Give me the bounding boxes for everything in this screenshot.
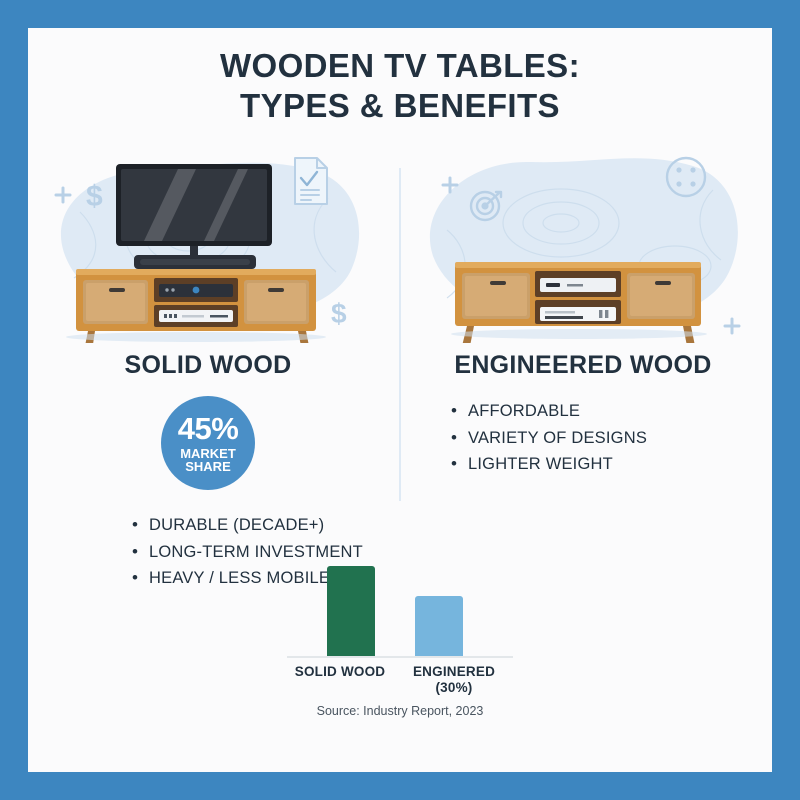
bar-solid-wood (327, 566, 375, 656)
title-line-1: WOODEN TV TABLES: (220, 47, 580, 84)
television (116, 164, 272, 260)
svg-text:$: $ (331, 298, 347, 329)
soundbar (134, 255, 256, 269)
solid-wood-heading: SOLID WOOD (28, 351, 388, 380)
solid-wood-illustration: $ $ (28, 138, 388, 343)
market-share-bar-chart: SOLID WOOD ENGINERED (30%) Source: Indus… (28, 553, 772, 718)
infographic-frame: WOODEN TV TABLES: TYPES & BENEFITS (0, 0, 800, 800)
axis-tick-solid-wood: SOLID WOOD (285, 664, 395, 680)
dollar-icon: $ (86, 180, 103, 213)
list-item: AFFORDABLE (451, 398, 763, 425)
tv-console (66, 269, 326, 343)
page-title: WOODEN TV TABLES: TYPES & BENEFITS (28, 46, 772, 127)
chart-x-axis-labels: SOLID WOOD ENGINERED (30%) (285, 664, 515, 698)
engineered-wood-illustration (403, 138, 763, 343)
list-item: VARIETY OF DESIGNS (451, 425, 763, 452)
engineered-wood-bullet-list: AFFORDABLE VARIETY OF DESIGNS LIGHTER WE… (451, 398, 763, 478)
solid-wood-column: $ $ (28, 138, 388, 592)
chart-source: Source: Industry Report, 2023 (28, 704, 772, 718)
chart-baseline (287, 656, 513, 658)
bar-engineered (415, 596, 463, 656)
engineered-wood-column: ENGINEERED WOOD AFFORDABLE VARIETY OF DE… (403, 138, 763, 478)
chart-plot-area (305, 553, 495, 658)
dollar-icon: $ (331, 298, 347, 329)
tv-console (451, 262, 707, 343)
axis-tick-sublabel: (30%) (393, 680, 515, 695)
title-line-2: TYPES & BENEFITS (28, 86, 772, 126)
list-item: DURABLE (DECADE+) (132, 512, 388, 539)
badge-label: MARKET SHARE (180, 447, 236, 474)
axis-tick-engineered: ENGINERED (30%) (393, 664, 515, 695)
list-item: LIGHTER WEIGHT (451, 451, 763, 478)
infographic-canvas: WOODEN TV TABLES: TYPES & BENEFITS (28, 28, 772, 772)
plus-icon (725, 319, 739, 333)
badge-percent: 45% (178, 413, 239, 445)
axis-tick-label: ENGINERED (413, 664, 495, 679)
market-share-badge: 45% MARKET SHARE (161, 396, 255, 490)
engineered-wood-heading: ENGINEERED WOOD (403, 351, 763, 380)
market-share-badge-wrap: 45% MARKET SHARE (28, 396, 388, 490)
badge-label-line-2: SHARE (185, 459, 231, 474)
axis-tick-label: SOLID WOOD (295, 664, 386, 679)
report-document-icon (295, 158, 327, 204)
plus-icon (56, 188, 70, 202)
column-divider (399, 168, 401, 501)
svg-text:$: $ (86, 180, 103, 213)
